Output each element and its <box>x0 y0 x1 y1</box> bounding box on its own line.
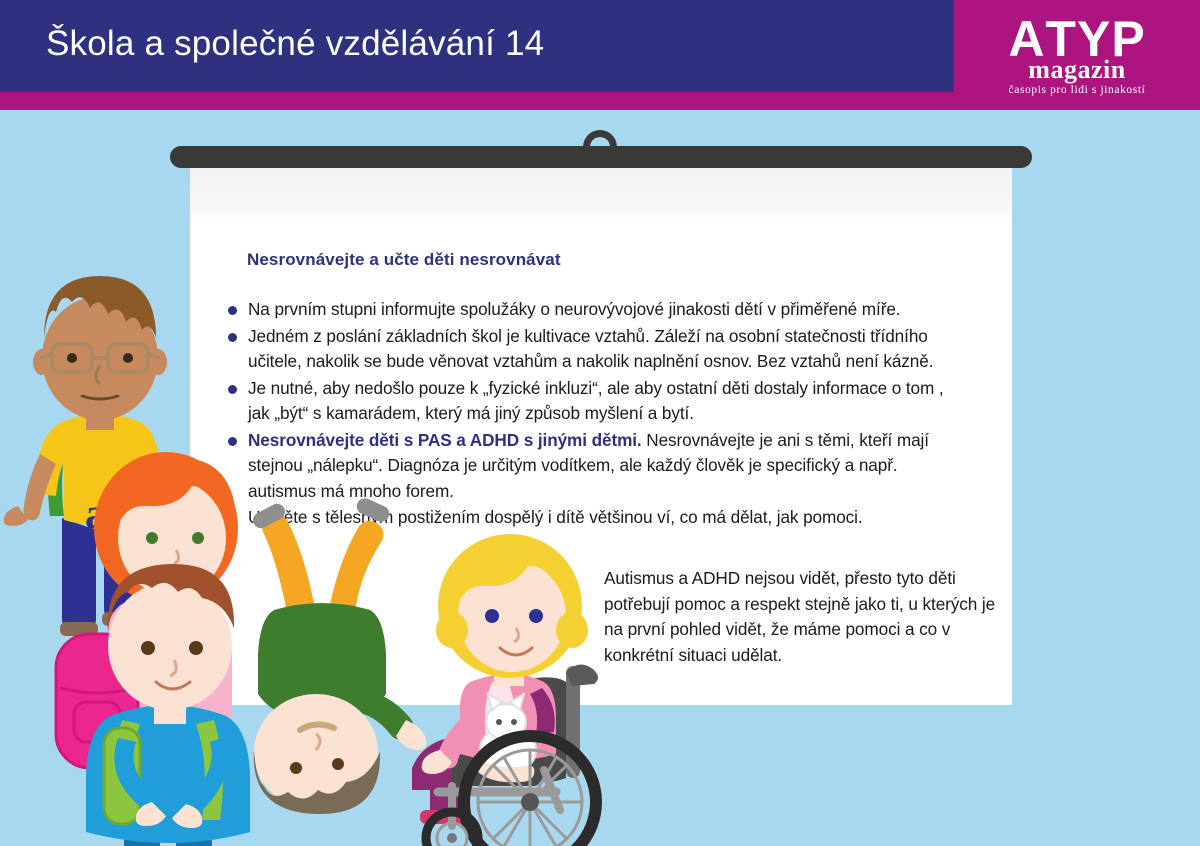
logo-tagline: časopis pro lidi s jinakostí <box>1009 84 1146 96</box>
page-title: Škola a společné vzdělávání 14 <box>46 24 544 64</box>
slide-page: Škola a společné vzdělávání 14 ATYP maga… <box>0 0 1200 846</box>
children-illustration: a <box>0 110 640 846</box>
closing-paragraph: Autismus a ADHD nejsou vidět, přesto tyt… <box>604 566 1004 668</box>
atyp-magazin-logo: ATYP magazin časopis pro lidi s jinakost… <box>954 0 1200 110</box>
logo-letter-p: P <box>1111 16 1145 62</box>
logo-letter-t: T <box>1045 16 1077 62</box>
logo-letter-y: Y <box>1077 16 1111 62</box>
child-girl-in-wheelchair <box>412 534 598 846</box>
logo-letter-a: A <box>1008 16 1045 62</box>
logo-wordmark: ATYP <box>1008 16 1145 62</box>
child-cartwheel <box>250 496 426 814</box>
